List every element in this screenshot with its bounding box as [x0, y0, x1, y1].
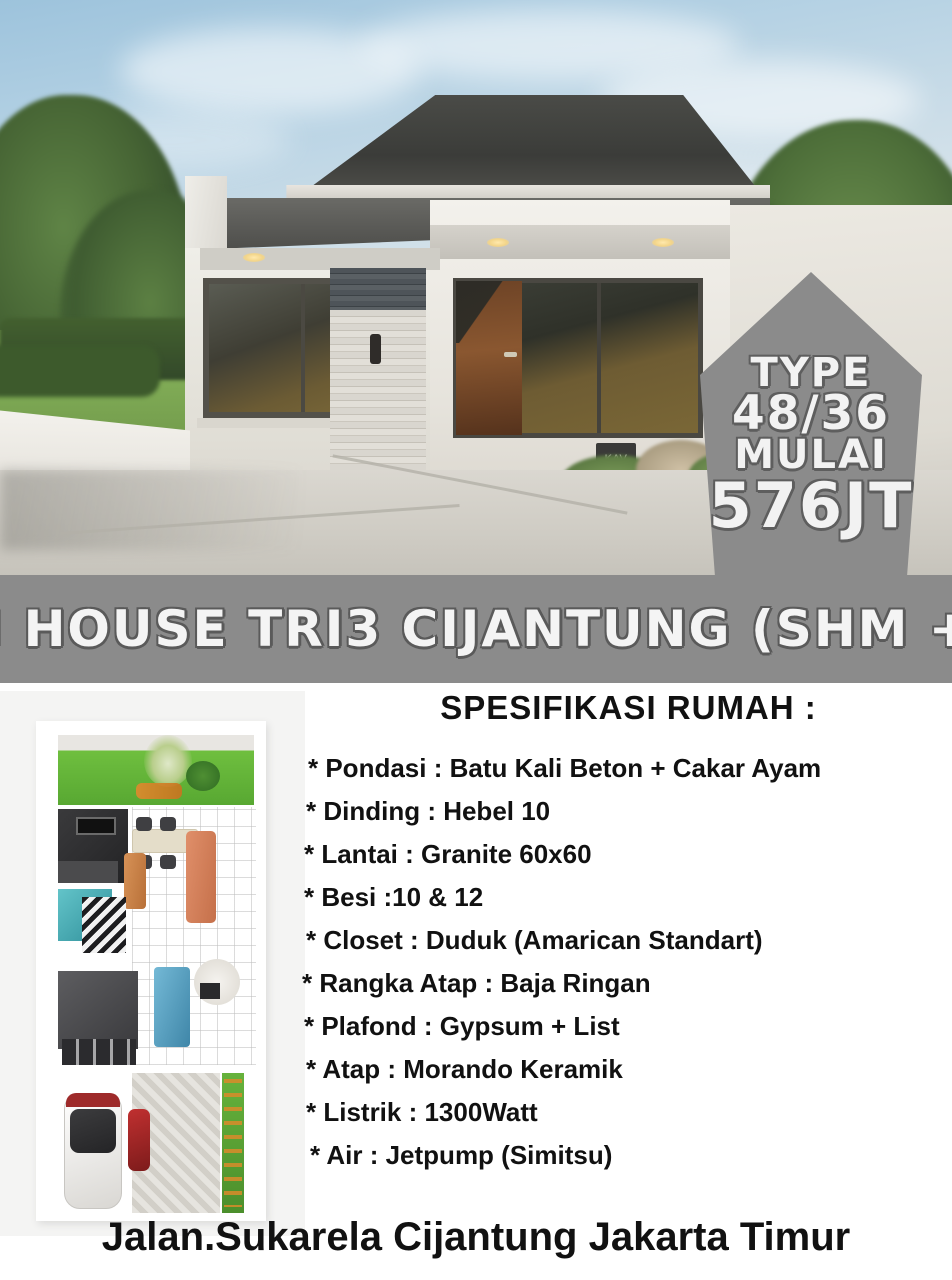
front-door	[456, 281, 522, 435]
badge-type-value: 48/36	[732, 390, 890, 438]
downlight-icon	[487, 238, 509, 247]
plan-sofa-orange	[186, 831, 216, 923]
list-item: * Closet : Duduk (Amarican Standart)	[300, 927, 952, 953]
downlight-icon	[243, 253, 265, 262]
plan-kitchen-counter	[58, 861, 118, 883]
plan-chair	[160, 817, 176, 831]
list-item: * Pondasi : Batu Kali Beton + Cakar Ayam	[300, 755, 952, 781]
plan-tv-icon	[200, 983, 220, 999]
plan-flowerbed	[136, 783, 182, 799]
list-item: * Dinding : Hebel 10	[300, 798, 952, 824]
list-item: * Listrik : 1300Watt	[300, 1099, 952, 1125]
banner-title-text: TOWN HOUSE TRI3 CIJANTUNG (SHM + IMB)	[0, 600, 952, 658]
plan-motorcycle-icon	[128, 1109, 150, 1171]
entry-soffit	[430, 225, 730, 259]
plan-car-roof	[70, 1109, 116, 1153]
driveway-shadow	[0, 470, 300, 550]
specification-section: SPESIFIKASI RUMAH : * Pondasi : Batu Kal…	[0, 683, 952, 1280]
list-item: * Air : Jetpump (Simitsu)	[300, 1142, 952, 1168]
floor-plan-card	[36, 721, 266, 1221]
property-photo: KAV 01 TYPE 48/36 MULAI 576JT TOWN HOUSE…	[0, 0, 952, 683]
address-text: Jalan.Sukarela Cijantung Jakarta Timur	[0, 1215, 952, 1260]
list-item: * Rangka Atap : Baja Ringan	[300, 970, 952, 996]
badge-price-value: 576JT	[709, 474, 914, 537]
plan-chair	[136, 817, 152, 831]
title-banner: TOWN HOUSE TRI3 CIJANTUNG (SHM + IMB)	[0, 575, 952, 683]
plan-sofa-blue	[154, 967, 190, 1047]
spec-heading: SPESIFIKASI RUMAH :	[305, 689, 952, 727]
plan-stove-icon	[76, 817, 116, 835]
plan-palm-icon	[144, 735, 192, 787]
list-item: * Atap : Morando Keramik	[300, 1056, 952, 1082]
plan-bed	[62, 1039, 136, 1065]
stone-cladding-dark-band	[330, 268, 426, 310]
floor-plan-image	[0, 691, 305, 1236]
plan-flower-row	[224, 1079, 242, 1207]
downlight-icon	[652, 238, 674, 247]
list-item: * Plafond : Gypsum + List	[300, 1013, 952, 1039]
plan-stairs	[82, 897, 126, 953]
plan-car-front	[66, 1093, 120, 1107]
plan-chair	[160, 855, 176, 869]
plan-bush-icon	[186, 761, 220, 791]
plan-armchair-orange	[124, 853, 146, 909]
plan-bedroom	[58, 971, 138, 1049]
wall-lamp-icon	[370, 334, 381, 364]
spec-list: * Pondasi : Batu Kali Beton + Cakar Ayam…	[300, 755, 952, 1185]
porch-ceiling	[200, 248, 440, 270]
door-handle-icon	[504, 352, 517, 357]
hedge	[0, 345, 160, 397]
list-item: * Lantai : Granite 60x60	[300, 841, 952, 867]
list-item: * Besi :10 & 12	[300, 884, 952, 910]
